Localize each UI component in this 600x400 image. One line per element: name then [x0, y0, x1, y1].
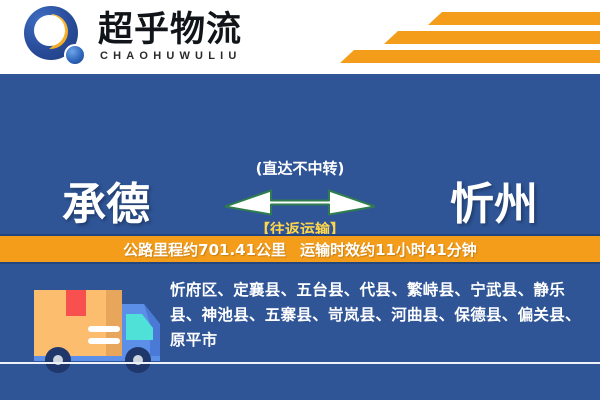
route-panel: 承德 (直达不中转) 【往返运输】 忻州	[0, 77, 600, 232]
origin-city: 承德	[62, 181, 150, 229]
stripe-3	[340, 50, 600, 63]
coverage-areas-text: 忻府区、定襄县、五台县、代县、繁峙县、宁武县、静乐县、神池县、五寨县、岢岚县、河…	[170, 278, 582, 353]
stripe-1	[428, 12, 600, 25]
brand-name-cn: 超乎物流	[98, 11, 242, 49]
duration-text: 运输时效约11小时41分钟	[300, 239, 477, 260]
brand-name-en: CHAOHUWULIU	[98, 49, 242, 63]
brand-text: 超乎物流 CHAOHUWULIU	[98, 11, 242, 63]
header: 超乎物流 CHAOHUWULIU	[0, 0, 600, 74]
brand-logo: 超乎物流 CHAOHUWULIU	[24, 6, 242, 68]
logistics-route-banner: 超乎物流 CHAOHUWULIU 承德 (直达不中转) 【往返运输】 忻州 公路…	[0, 0, 600, 400]
destination-city: 忻州	[450, 181, 538, 229]
route-middle: (直达不中转) 【往返运输】	[200, 159, 400, 240]
bottom-divider	[0, 362, 600, 364]
logo-dot	[64, 44, 86, 66]
bidirectional-arrow-icon	[225, 183, 375, 217]
direct-route-note: (直达不中转)	[200, 159, 400, 179]
speed-stripes-icon	[340, 10, 600, 68]
q-circle-logo-icon	[24, 6, 86, 68]
coverage-panel: 忻府区、定襄县、五台县、代县、繁峙县、宁武县、静乐县、神池县、五寨县、岢岚县、河…	[0, 266, 600, 400]
logo-inner-hole	[34, 15, 65, 46]
distance-text: 公路里程约701.41公里	[123, 239, 286, 260]
stripe-2	[384, 31, 600, 44]
route-info-bar: 公路里程约701.41公里 运输时效约11小时41分钟	[0, 234, 600, 264]
